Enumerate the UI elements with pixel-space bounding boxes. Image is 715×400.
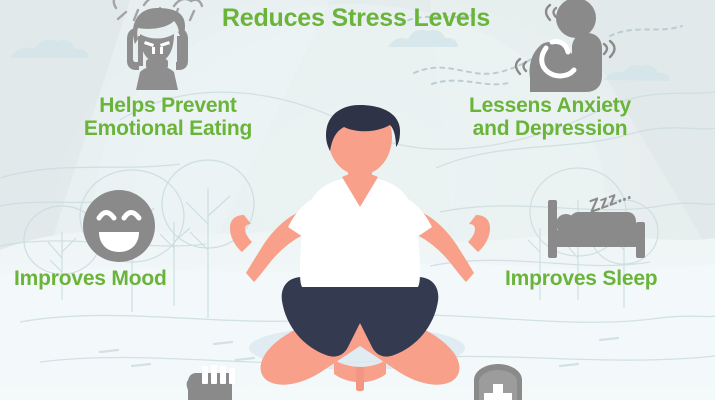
bed-sleeping-person-icon: Zzz... (540, 190, 658, 266)
benefit-label-stress: Reduces Stress Levels (206, 5, 506, 32)
shirt (288, 173, 432, 287)
benefit-label-emotional-eating: Helps Prevent Emotional Eating (40, 95, 296, 140)
head-and-hands (127, 8, 188, 90)
meditating-person (230, 105, 490, 400)
person-hugging-knees-icon (508, 0, 620, 96)
smiling-face-icon (80, 187, 158, 265)
legs-lotus (261, 315, 460, 391)
stressed-head-holding-icon (104, 0, 210, 90)
benefit-label-anxiety: Lessens Anxiety and Depression (440, 95, 660, 140)
infographic-canvas: Zzz... (0, 0, 715, 400)
head (326, 105, 400, 185)
benefit-label-sleep: Improves Sleep (505, 268, 705, 291)
benefit-label-mood: Improves Mood (14, 268, 214, 291)
